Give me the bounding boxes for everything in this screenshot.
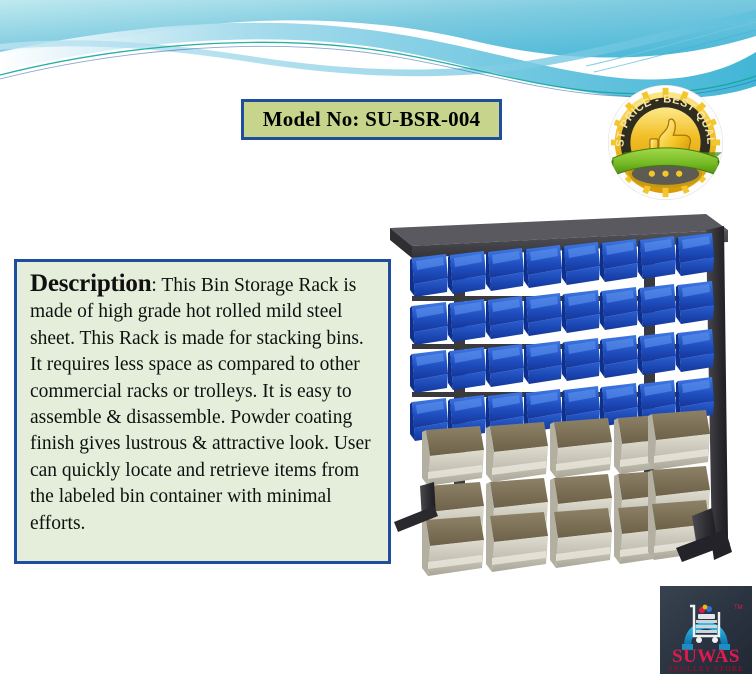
logo-trademark: TM: [734, 605, 743, 611]
blue-bin-section: [410, 233, 714, 441]
model-number-text: Model No: SU-BSR-004: [263, 107, 481, 132]
blue-bin: [410, 350, 448, 393]
blue-bin: [638, 236, 676, 279]
blue-bin: [486, 344, 524, 387]
blue-bin: [638, 284, 676, 327]
gray-bin-section: [422, 410, 710, 576]
blue-bin: [448, 299, 486, 342]
blue-bin: [486, 248, 524, 291]
blue-bin: [638, 332, 676, 375]
blue-bin: [410, 302, 448, 345]
gray-bin: [486, 512, 548, 572]
gray-bin: [422, 516, 484, 576]
blue-bin: [562, 338, 600, 381]
blue-bin: [676, 281, 714, 324]
description-text: Description: This Bin Storage Rack is ma…: [30, 271, 376, 537]
blue-bin: [410, 254, 448, 297]
model-number-box: Model No: SU-BSR-004: [241, 99, 502, 140]
blue-bin: [524, 341, 562, 384]
blue-bin: [562, 242, 600, 285]
blue-bin: [562, 290, 600, 333]
blue-bin: [448, 347, 486, 390]
gray-bin: [486, 422, 548, 482]
logo-tagline: TROLLEY STORE: [668, 664, 745, 673]
blue-bin: [524, 293, 562, 336]
suwas-brand-logo: TM SUWAS TROLLEY STORE: [660, 586, 752, 674]
blue-bin: [676, 233, 714, 276]
description-box: Description: This Bin Storage Rack is ma…: [14, 259, 391, 564]
blue-bin: [600, 287, 638, 330]
gray-bin: [422, 426, 484, 486]
blue-bin: [600, 239, 638, 282]
gray-bin: [550, 418, 612, 478]
bin-storage-rack-image: [376, 186, 736, 586]
blue-bin: [486, 296, 524, 339]
blue-bin: [524, 245, 562, 288]
blue-bin: [448, 251, 486, 294]
gray-bin: [550, 508, 612, 568]
description-paragraph: This Bin Storage Rack is made of high gr…: [30, 275, 371, 534]
description-label: Description: [30, 270, 151, 297]
best-price-best-quality-badge: BEST PRICE - BEST QUALITY: [607, 84, 724, 201]
blue-bin: [676, 329, 714, 372]
gray-bin: [648, 410, 710, 470]
blue-bin: [600, 335, 638, 378]
